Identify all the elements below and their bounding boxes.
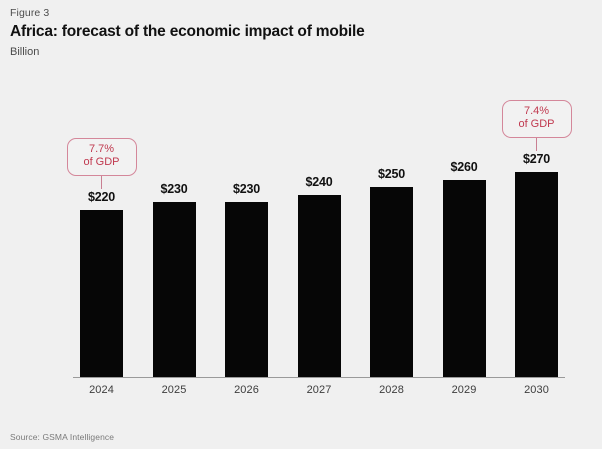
bar-value-label-2027: $240: [298, 175, 341, 189]
bar-value-label-2026: $230: [225, 182, 268, 196]
callout-2030-connector-line: [536, 138, 537, 151]
x-axis-tick-2024: 2024: [80, 384, 123, 396]
bar-2029: [443, 180, 486, 377]
bar-2026: [225, 202, 268, 377]
bar-2024: [80, 210, 123, 377]
figure-container: Figure 3 Africa: forecast of the economi…: [0, 0, 602, 449]
x-axis-tick-2030: 2030: [515, 384, 558, 396]
bar-group: $2702030: [515, 0, 558, 449]
source-note: Source: GSMA Intelligence: [10, 432, 114, 442]
bar-2027: [298, 195, 341, 377]
bar-2028: [370, 187, 413, 377]
bar-group: $2502028: [370, 0, 413, 449]
callout-2024-connector-line: [101, 176, 102, 189]
x-axis-tick-2028: 2028: [370, 384, 413, 396]
chart-plot-area: $2202024$2302025$2302026$2402027$2502028…: [0, 0, 602, 449]
bar-group: $2602029: [443, 0, 486, 449]
bar-2025: [153, 202, 196, 377]
bar-group: $2302026: [225, 0, 268, 449]
x-axis-tick-2029: 2029: [443, 384, 486, 396]
bar-2030: [515, 172, 558, 377]
callout-2030-caption: of GDP: [510, 118, 564, 131]
x-axis-tick-2027: 2027: [298, 384, 341, 396]
callout-2024-percent: 7.7%: [75, 143, 129, 156]
bar-group: $2202024: [80, 0, 123, 449]
bar-value-label-2024: $220: [80, 190, 123, 204]
callout-2024-caption: of GDP: [75, 156, 129, 169]
bar-value-label-2025: $230: [153, 182, 196, 196]
bar-value-label-2028: $250: [370, 167, 413, 181]
callout-2030-percent: 7.4%: [510, 105, 564, 118]
callout-2024: 7.7%of GDP: [67, 138, 137, 176]
bar-group: $2302025: [153, 0, 196, 449]
bar-value-label-2029: $260: [443, 160, 486, 174]
x-axis-tick-2026: 2026: [225, 384, 268, 396]
bar-value-label-2030: $270: [515, 152, 558, 166]
callout-2030: 7.4%of GDP: [502, 100, 572, 138]
x-axis-tick-2025: 2025: [153, 384, 196, 396]
bar-group: $2402027: [298, 0, 341, 449]
